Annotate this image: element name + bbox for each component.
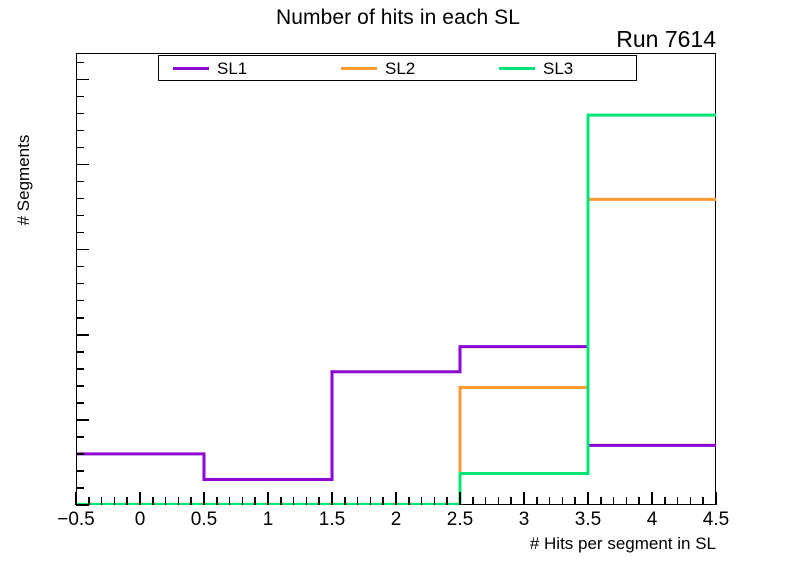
y-tick-minor: [76, 181, 84, 183]
y-tick-minor: [76, 266, 84, 268]
y-tick-minor: [76, 232, 84, 234]
x-tick-minor: [101, 497, 103, 505]
series-step-sl2: [76, 199, 716, 504]
x-tick-minor: [216, 497, 218, 505]
y-tick-minor: [76, 402, 84, 404]
y-tick-major: [76, 334, 89, 336]
x-tick-major: [651, 492, 653, 505]
x-tick-minor: [690, 497, 692, 505]
y-tick-minor: [76, 453, 84, 455]
y-tick-minor: [76, 300, 84, 302]
legend-label: SL2: [385, 60, 415, 77]
x-tick-minor: [434, 497, 436, 505]
x-tick-major: [523, 492, 525, 505]
x-tick-major: [267, 492, 269, 505]
legend-color-swatch: [499, 67, 535, 70]
legend-color-swatch: [173, 67, 209, 70]
x-tick-minor: [421, 497, 423, 505]
x-tick-minor: [126, 497, 128, 505]
x-tick-major: [459, 492, 461, 505]
x-tick-minor: [562, 497, 564, 505]
x-tick-minor: [165, 497, 167, 505]
x-tick-minor: [357, 497, 359, 505]
x-tick-minor: [318, 497, 320, 505]
run-number-label: Run 7614: [0, 26, 716, 53]
histogram-plot: [76, 53, 716, 505]
legend-label: SL3: [543, 60, 573, 77]
legend-item-sl3[interactable]: SL3: [499, 56, 573, 80]
x-tick-minor: [306, 497, 308, 505]
x-tick-minor: [382, 497, 384, 505]
x-tick-minor: [664, 497, 666, 505]
y-tick-minor: [76, 368, 84, 370]
x-tick-label: 4.5: [671, 509, 761, 531]
x-tick-minor: [114, 497, 116, 505]
x-tick-minor: [229, 497, 231, 505]
x-tick-minor: [472, 497, 474, 505]
legend-label: SL1: [217, 60, 247, 77]
legend-color-swatch: [341, 67, 377, 70]
x-tick-minor: [600, 497, 602, 505]
x-tick-minor: [88, 497, 90, 505]
y-tick-minor: [76, 96, 84, 98]
x-tick-minor: [613, 497, 615, 505]
x-axis-title: # Hits per segment in SL: [0, 534, 716, 554]
x-tick-minor: [152, 497, 154, 505]
y-tick-minor: [76, 198, 84, 200]
x-tick-minor: [293, 497, 295, 505]
y-tick-major: [76, 419, 89, 421]
y-tick-minor: [76, 351, 84, 353]
y-tick-minor: [76, 113, 84, 115]
x-tick-major: [203, 492, 205, 505]
y-axis-title: # Segments: [14, 110, 34, 250]
y-tick-minor: [76, 470, 84, 472]
y-tick-minor: [76, 130, 84, 132]
x-tick-major: [587, 492, 589, 505]
x-tick-minor: [242, 497, 244, 505]
y-tick-minor: [76, 317, 84, 319]
series-step-sl1: [76, 347, 716, 480]
y-tick-minor: [76, 436, 84, 438]
x-tick-minor: [638, 497, 640, 505]
x-tick-minor: [702, 497, 704, 505]
y-tick-minor: [76, 215, 84, 217]
y-tick-minor: [76, 487, 84, 489]
x-tick-minor: [344, 497, 346, 505]
x-tick-major: [395, 492, 397, 505]
x-tick-major: [75, 492, 77, 505]
y-tick-minor: [76, 147, 84, 149]
y-tick-major: [76, 79, 89, 81]
x-tick-minor: [510, 497, 512, 505]
x-tick-minor: [677, 497, 679, 505]
x-tick-minor: [254, 497, 256, 505]
y-tick-minor: [76, 62, 84, 64]
x-tick-minor: [408, 497, 410, 505]
chart-canvas: Number of hits in each SL Run 7614 # Seg…: [0, 0, 796, 572]
x-tick-minor: [446, 497, 448, 505]
x-tick-major: [139, 492, 141, 505]
x-tick-major: [331, 492, 333, 505]
x-tick-minor: [549, 497, 551, 505]
legend: SL1SL2SL3: [158, 55, 637, 81]
y-tick-major: [76, 164, 89, 166]
x-tick-minor: [626, 497, 628, 505]
x-tick-minor: [485, 497, 487, 505]
y-tick-minor: [76, 385, 84, 387]
x-tick-minor: [280, 497, 282, 505]
x-tick-minor: [574, 497, 576, 505]
x-tick-minor: [190, 497, 192, 505]
x-tick-major: [715, 492, 717, 505]
legend-item-sl2[interactable]: SL2: [341, 56, 415, 80]
legend-item-sl1[interactable]: SL1: [173, 56, 247, 80]
x-tick-minor: [370, 497, 372, 505]
y-tick-major: [76, 249, 89, 251]
y-tick-minor: [76, 283, 84, 285]
x-tick-minor: [536, 497, 538, 505]
x-tick-minor: [498, 497, 500, 505]
x-tick-minor: [178, 497, 180, 505]
